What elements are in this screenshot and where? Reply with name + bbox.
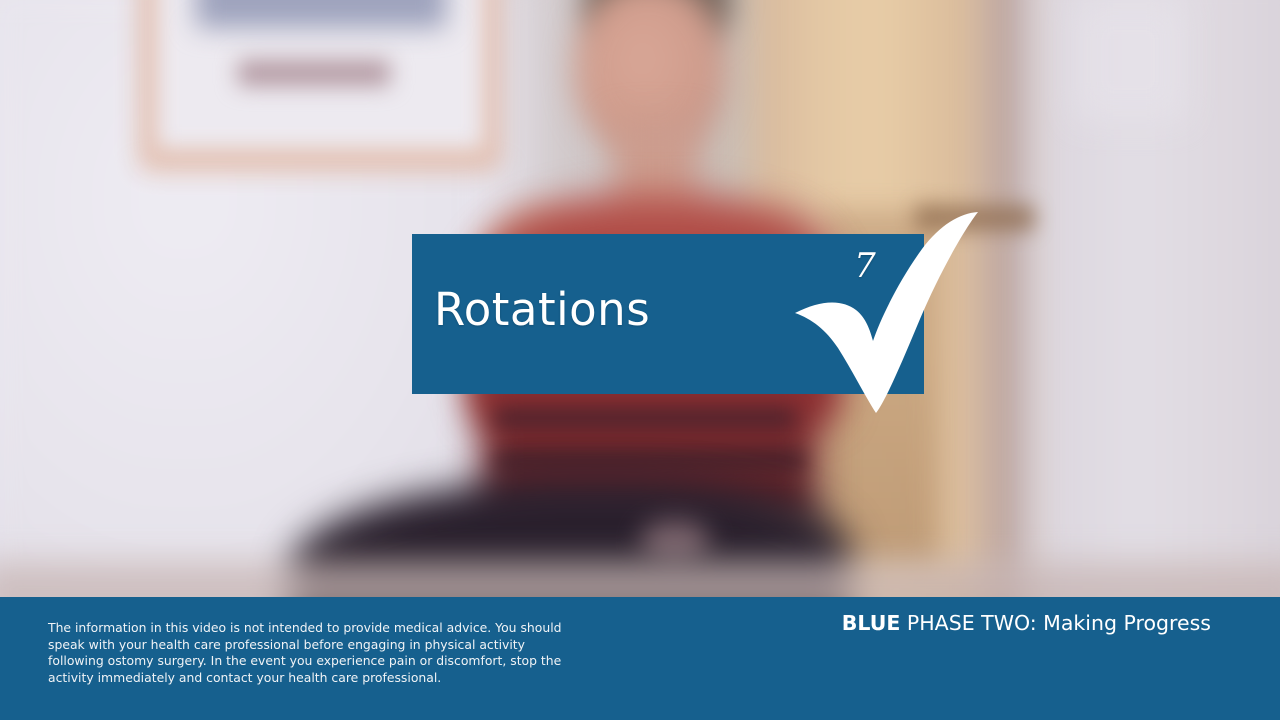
brand-name: BLUE [842,611,901,635]
background-wall-right-highlight [1075,0,1185,120]
background-lap-highlight [640,520,710,560]
background-picture-artwork [196,0,446,28]
program-branding: BLUE PHASE TWO: Making Progress [842,610,1211,637]
brand-phase-label: PHASE TWO: Making Progress [900,611,1211,635]
background-picture-caption [238,60,390,86]
background-shirt-stripe [495,452,805,468]
exercise-title: Rotations [434,287,650,332]
medical-disclaimer-text: The information in this video is not int… [48,620,578,686]
background-chair-rail [915,205,1035,231]
video-frame: Rotations 7 The information in this vide… [0,0,1280,720]
exercise-number: 7 [846,249,884,283]
background-shirt-stripe [495,410,795,426]
